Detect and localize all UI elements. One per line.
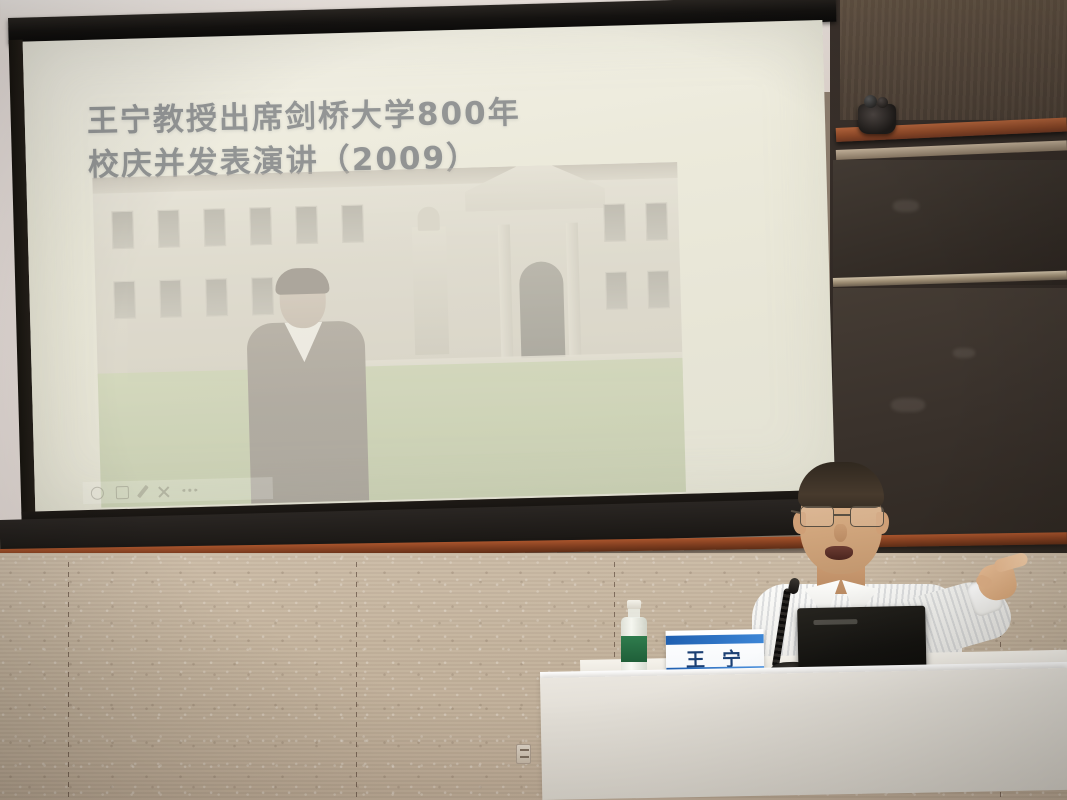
slide-photo-window — [603, 203, 626, 242]
slide-photo-window — [203, 208, 226, 247]
next-arrow-icon[interactable] — [116, 485, 129, 498]
slide-photo-window — [341, 204, 364, 243]
slide-photo-person-hair — [275, 267, 330, 294]
slide-photo-window — [157, 209, 180, 248]
placard-stripe-top — [666, 634, 764, 645]
decorative-ornament — [858, 104, 896, 134]
water-bottle — [618, 600, 649, 678]
slide-photo-window — [249, 207, 272, 246]
slide-photo-person — [239, 270, 373, 507]
blackboard-upper — [833, 160, 1067, 285]
slide-photo-window — [159, 279, 182, 318]
slide-photo-window — [113, 281, 136, 320]
menu-dots-icon[interactable] — [182, 488, 198, 492]
speaker-hand — [974, 554, 1030, 602]
slide-photo-archway — [519, 261, 566, 358]
bottle-neck — [628, 609, 640, 618]
wall-panel-seam — [68, 562, 69, 800]
glasses-icon — [796, 506, 888, 528]
slide-photo-monument — [412, 226, 449, 355]
projection-screen: 王宁教授出席剑桥大学800年 校庆并发表演讲（2009） — [8, 0, 850, 553]
chalk-smudge — [891, 398, 925, 412]
chalk-smudge — [893, 200, 919, 212]
slide-photo-window — [295, 206, 318, 245]
slide-photo-window — [605, 271, 628, 310]
laptop-logo — [813, 619, 857, 625]
slide-photo-window — [111, 211, 134, 250]
podium-desk — [540, 668, 1067, 800]
bottle-cap — [627, 600, 641, 609]
slide-photo-window — [205, 278, 228, 317]
glasses-lens-left — [800, 506, 834, 527]
wall-outlet — [516, 744, 531, 764]
glasses-bridge — [834, 514, 850, 516]
speaker-mouth — [825, 546, 853, 560]
close-icon[interactable] — [157, 484, 170, 497]
previous-arrow-icon[interactable] — [91, 486, 104, 499]
slide-canvas: 王宁教授出席剑桥大学800年 校庆并发表演讲（2009） — [23, 20, 835, 511]
slide-photo-window — [645, 202, 668, 241]
bottle-label — [621, 636, 647, 662]
chalk-smudge — [953, 348, 975, 358]
slide-photo — [92, 162, 686, 508]
slide-photo-window — [647, 270, 670, 309]
speaker-hair — [798, 462, 884, 508]
glasses-lens-right — [850, 506, 884, 527]
pen-icon[interactable] — [137, 485, 149, 498]
wall-panel-seam — [356, 562, 357, 800]
lecture-hall-photo: 王宁教授出席剑桥大学800年 校庆并发表演讲（2009） — [0, 0, 1067, 800]
